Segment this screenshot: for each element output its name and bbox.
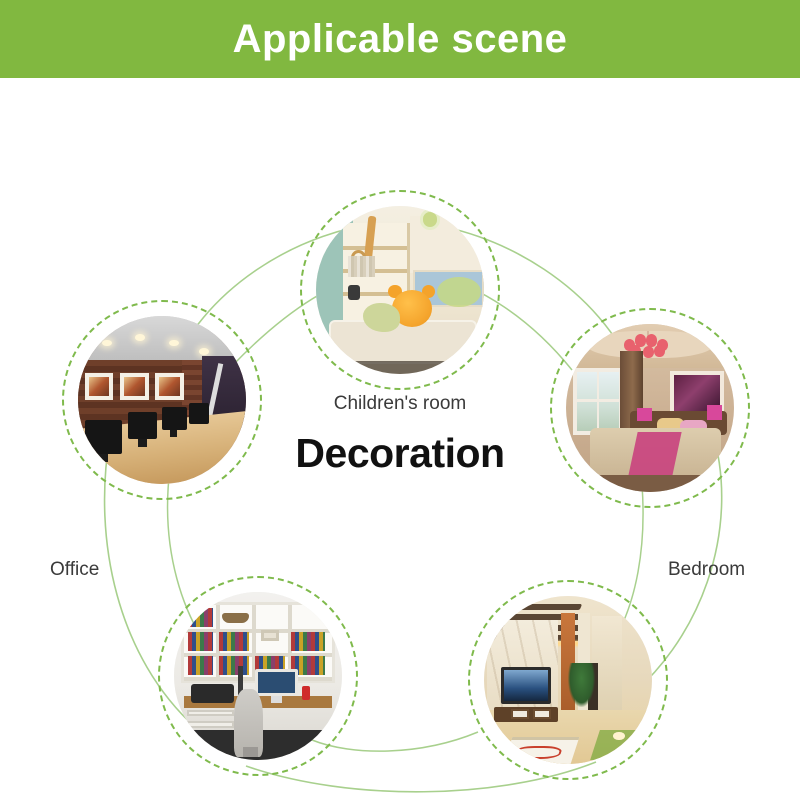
scene-diagram: Children's room bbox=[0, 78, 800, 800]
office-label: Office bbox=[50, 560, 99, 579]
header-banner: Applicable scene bbox=[0, 0, 800, 78]
childrens-room-photo[interactable] bbox=[316, 206, 484, 374]
page-root: Applicable scene bbox=[0, 0, 800, 800]
study-illustration bbox=[174, 592, 342, 760]
childrens-room-illustration bbox=[316, 206, 484, 374]
living-room-photo[interactable] bbox=[484, 596, 652, 764]
page-title: Applicable scene bbox=[233, 19, 568, 59]
study-photo[interactable] bbox=[174, 592, 342, 760]
living-room-illustration bbox=[484, 596, 652, 764]
diagram-center-label: Decoration bbox=[0, 433, 800, 474]
bedroom-label: Bedroom bbox=[668, 560, 745, 579]
childrens-room-label: Children's room bbox=[322, 394, 478, 413]
